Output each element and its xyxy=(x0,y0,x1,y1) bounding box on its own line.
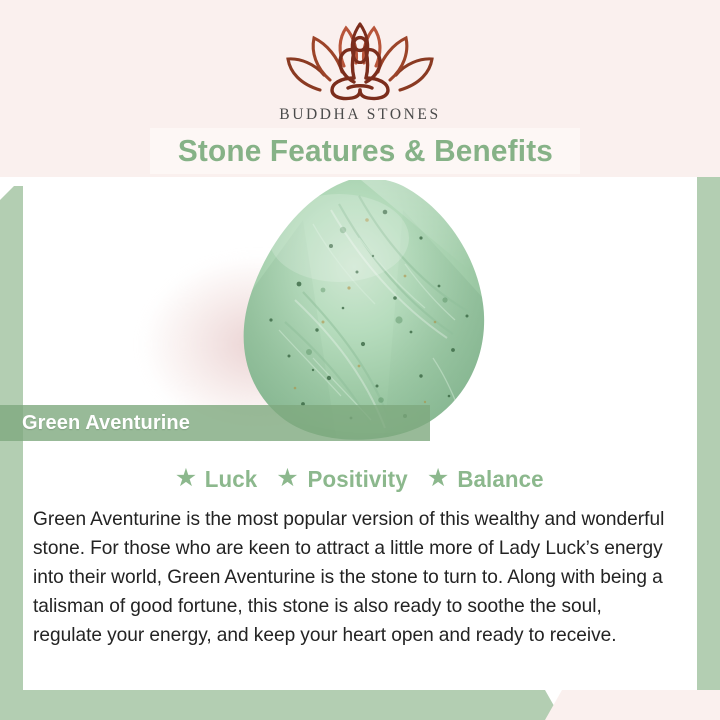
product-name-label: Green Aventurine xyxy=(0,405,430,441)
benefits-row: ★ Luck ★ Positivity ★ Balance xyxy=(23,466,697,493)
star-icon: ★ xyxy=(427,466,449,491)
content-section: ★ Luck ★ Positivity ★ Balance Green Aven… xyxy=(23,442,697,690)
star-icon: ★ xyxy=(175,466,197,491)
benefit-item-positivity: ★ Positivity xyxy=(276,466,409,493)
page-title: Stone Features & Benefits xyxy=(177,133,552,169)
frame-bottom-pink-corner xyxy=(545,690,720,720)
brand-name: BUDDHA STONES xyxy=(0,106,720,124)
frame-left-band xyxy=(0,186,23,720)
green-aventurine-stone xyxy=(153,180,573,442)
frame-bottom-band xyxy=(0,690,580,720)
title-banner: Stone Features & Benefits xyxy=(150,128,580,174)
product-image xyxy=(23,177,697,442)
benefit-item-balance: ★ Balance xyxy=(427,466,545,493)
stone-features-infographic: BUDDHA STONES Stone Features & Benefits xyxy=(0,0,720,720)
lotus-meditation-figure-icon xyxy=(274,18,446,104)
benefit-label: Luck xyxy=(205,466,257,493)
product-name: Green Aventurine xyxy=(0,412,190,435)
benefit-label: Positivity xyxy=(307,466,407,493)
header-section: BUDDHA STONES Stone Features & Benefits xyxy=(0,0,720,177)
star-icon: ★ xyxy=(276,466,298,491)
benefit-item-luck: ★ Luck xyxy=(175,466,259,493)
brand-logo: BUDDHA STONES xyxy=(0,18,720,124)
benefit-label: Balance xyxy=(458,466,544,493)
stone-description: Green Aventurine is the most popular ver… xyxy=(33,505,675,650)
